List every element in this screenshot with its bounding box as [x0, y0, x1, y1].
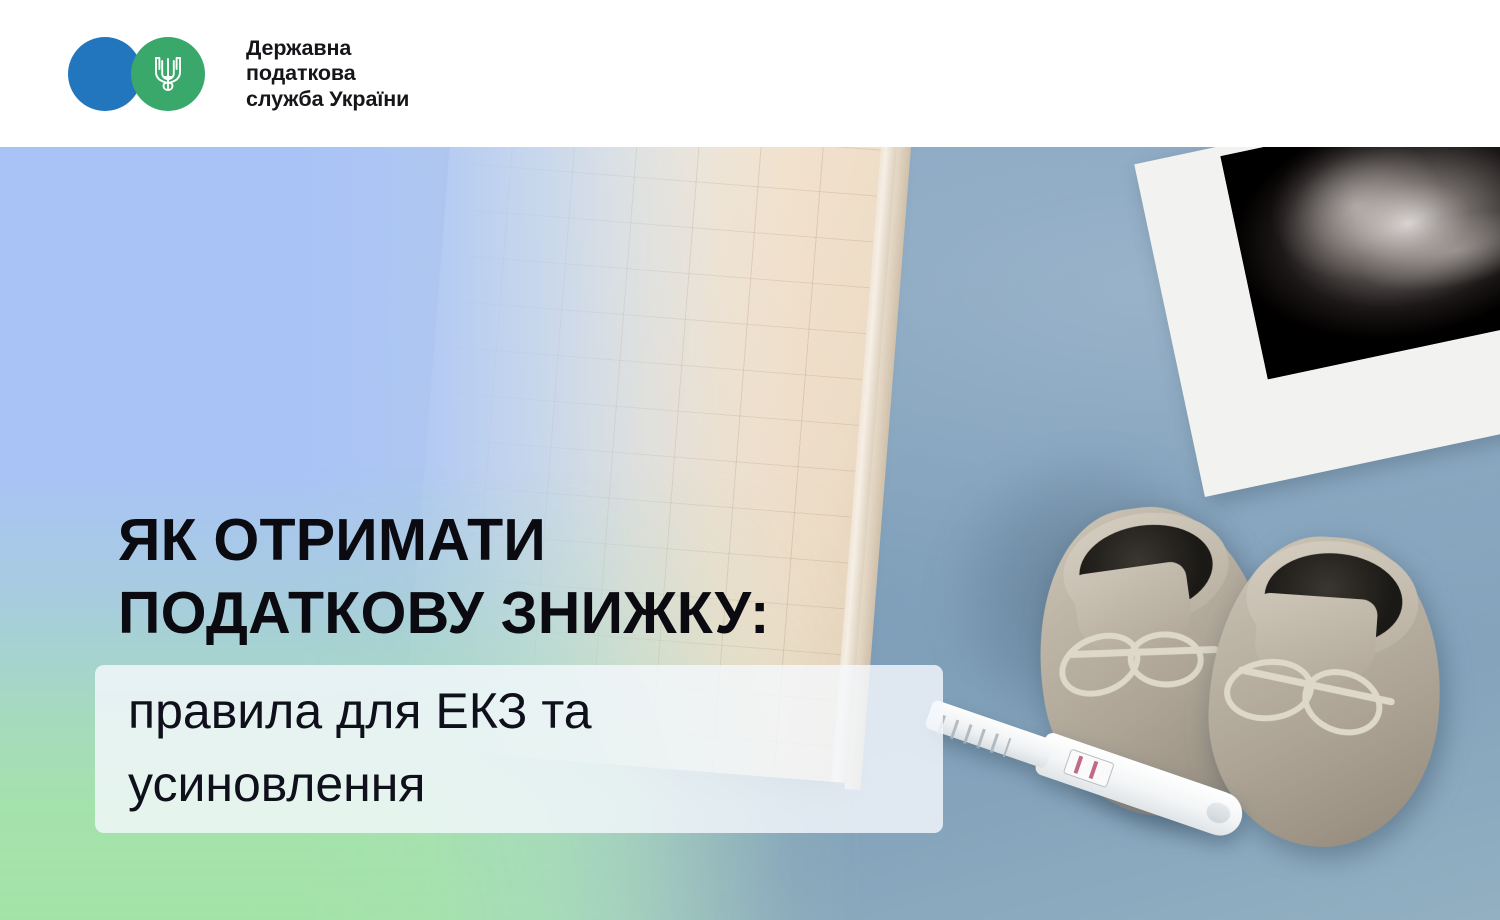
organization-name-line-2: податкова — [246, 61, 409, 87]
site-header: Державна податкова служба України — [0, 0, 1500, 147]
organization-name-line-1: Державна — [246, 36, 409, 62]
logo-green-circle — [131, 37, 205, 111]
headline-line-2: ПОДАТКОВУ ЗНИЖКУ: — [118, 577, 978, 650]
organization-logo[interactable]: Державна податкова служба України — [68, 37, 409, 111]
page-title: ЯК ОТРИМАТИ ПОДАТКОВУ ЗНИЖКУ: — [118, 504, 978, 650]
page-subtitle: правила для ЕКЗ та усиновлення — [128, 675, 928, 821]
hero-section: ЯК ОТРИМАТИ ПОДАТКОВУ ЗНИЖКУ: правила дл… — [0, 147, 1500, 920]
promo-banner: Державна податкова служба України — [0, 0, 1500, 920]
subtitle-line-1: правила для ЕКЗ та — [128, 675, 928, 748]
logo-mark — [68, 37, 183, 111]
ukraine-trident-icon — [151, 53, 185, 95]
subtitle-line-2: усиновлення — [128, 748, 928, 821]
organization-name-line-3: служба України — [246, 87, 409, 113]
organization-name: Державна податкова служба України — [246, 36, 409, 113]
headline-line-1: ЯК ОТРИМАТИ — [118, 504, 978, 577]
